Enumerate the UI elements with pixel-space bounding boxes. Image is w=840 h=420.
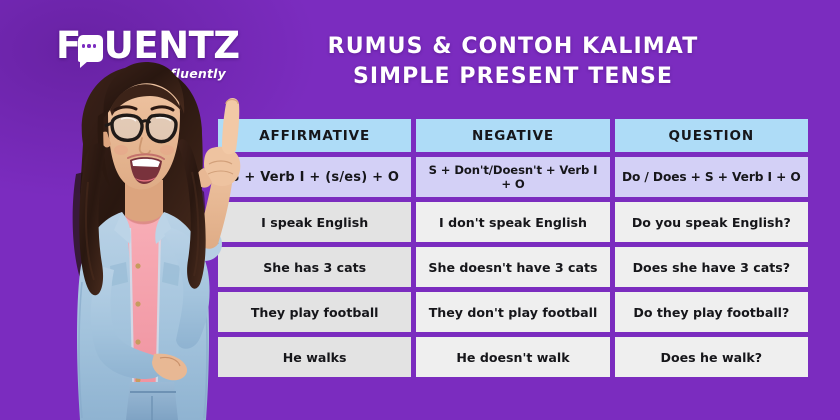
brand-logo[interactable]: FUENTZ speak fluently bbox=[56, 26, 226, 82]
speech-bubble-dots-icon bbox=[82, 44, 97, 48]
table-formula-question: Do / Does + S + Verb I + O bbox=[615, 157, 808, 197]
table-row: I don't speak English bbox=[416, 202, 609, 242]
glasses bbox=[105, 115, 176, 141]
page-title-line-1: RUMUS & CONTOH KALIMAT bbox=[218, 32, 808, 62]
table-header-question: QUESTION bbox=[615, 119, 808, 152]
table-row: They play football bbox=[218, 292, 411, 332]
table-formula-negative: S + Don't/Doesn't + Verb I + O bbox=[416, 157, 609, 197]
table-row: They don't play football bbox=[416, 292, 609, 332]
table-row: Do they play football? bbox=[615, 292, 808, 332]
brand-tagline: speak fluently bbox=[123, 66, 226, 81]
page-title: RUMUS & CONTOH KALIMAT SIMPLE PRESENT TE… bbox=[218, 32, 808, 92]
tense-table: AFFIRMATIVE NEGATIVE QUESTION S + Verb I… bbox=[218, 119, 808, 378]
presenter-photo-alt: Smiling young woman with glasses, long d… bbox=[0, 0, 1, 1]
table-header-affirmative: AFFIRMATIVE bbox=[218, 119, 411, 152]
tense-table-grid: AFFIRMATIVE NEGATIVE QUESTION S + Verb I… bbox=[218, 119, 808, 377]
table-row: Does he walk? bbox=[615, 337, 808, 377]
table-formula-affirmative: S + Verb I + (s/es) + O bbox=[218, 157, 411, 197]
poster-canvas: FUENTZ speak fluently RUMUS & CONTOH KAL… bbox=[0, 0, 840, 420]
brand-wordmark: FUENTZ bbox=[56, 26, 226, 66]
table-row: Does she have 3 cats? bbox=[615, 247, 808, 287]
table-row: She has 3 cats bbox=[218, 247, 411, 287]
table-row: I speak English bbox=[218, 202, 411, 242]
table-row: He walks bbox=[218, 337, 411, 377]
speech-bubble-icon bbox=[78, 35, 103, 62]
table-header-negative: NEGATIVE bbox=[416, 119, 609, 152]
table-row: He doesn't walk bbox=[416, 337, 609, 377]
page-title-line-2: SIMPLE PRESENT TENSE bbox=[218, 62, 808, 92]
table-row: She doesn't have 3 cats bbox=[416, 247, 609, 287]
table-row: Do you speak English? bbox=[615, 202, 808, 242]
